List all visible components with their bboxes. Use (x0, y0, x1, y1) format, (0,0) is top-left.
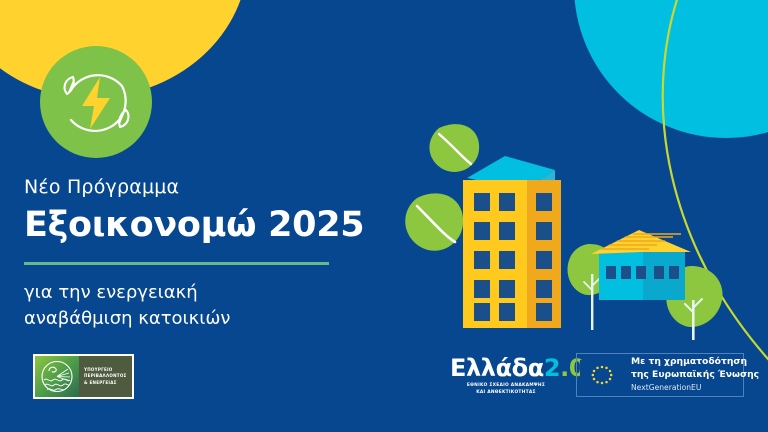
greece-2-0-subtitle: ΕΘΝΙΚΟ ΣΧΕΔΙΟ ΑΝΑΚΑΜΨΗΣ ΚΑΙ ΑΝΘΕΚΤΙΚΟΤΗΤ… (450, 383, 562, 396)
eu-flag-icon (580, 360, 624, 390)
poster-canvas: Νέο Πρόγραμμα Εξοικονομώ 2025 για την εν… (0, 0, 768, 432)
leaf-icon-lower (405, 193, 463, 250)
title-divider (24, 262, 329, 265)
apartment-building (463, 156, 561, 328)
greece-word-text: Ελλάδα (450, 354, 544, 382)
energy-upgrade-buildings-illustration (395, 100, 735, 340)
eu-text-line-2: της Ευρωπαϊκής Ένωσης (631, 369, 759, 381)
european-union-funding-logo: Με τη χρηματοδότηση της Ευρωπαϊκής Ένωση… (576, 353, 744, 397)
ministry-line-3: & ΕΝΕΡΓΕΙΑΣ (84, 380, 132, 386)
page-title: Εξοικονομώ 2025 (24, 206, 384, 245)
single-family-house (591, 230, 691, 300)
greece-2-0-wordmark: Ελλάδα2.0 (450, 356, 572, 380)
energy-recycle-icon (40, 46, 152, 158)
headline-block: Νέο Πρόγραμμα Εξοικονομώ 2025 για την εν… (24, 176, 384, 331)
greece-sub-line-1: ΕΘΝΙΚΟ ΣΧΕΔΙΟ ΑΝΑΚΑΜΨΗΣ (450, 383, 562, 390)
eyebrow-text: Νέο Πρόγραμμα (24, 176, 384, 200)
energy-badge (40, 46, 152, 158)
greece-sub-line-2: ΚΑΙ ΑΝΘΕΚΤΙΚΟΤΗΤΑΣ (450, 390, 562, 397)
eu-text-line-3: NextGenerationEU (631, 382, 759, 393)
ministry-of-environment-and-energy-logo: ΥΠΟΥΡΓΕΙΟ ΠΕΡΙΒΑΛΛΟΝΤΟΣ & ΕΝΕΡΓΕΙΑΣ (33, 354, 134, 399)
leaf-icon-upper (429, 124, 479, 172)
ministry-emblem-icon (35, 356, 79, 397)
footer-logos: ΥΠΟΥΡΓΕΙΟ ΠΕΡΙΒΑΛΛΟΝΤΟΣ & ΕΝΕΡΓΕΙΑΣ Ελλά… (0, 348, 768, 408)
subtitle-text: για την ενεργειακή αναβάθμιση κατοικιών (24, 280, 384, 331)
subtitle-line-2: αναβάθμιση κατοικιών (24, 308, 230, 329)
greece-2-0-logo: Ελλάδα2.0 ΕΘΝΙΚΟ ΣΧΕΔΙΟ ΑΝΑΚΑΜΨΗΣ ΚΑΙ ΑΝ… (450, 356, 572, 398)
eu-text-line-1: Με τη χρηματοδότηση (631, 356, 759, 368)
subtitle-line-1: για την ενεργειακή (24, 282, 198, 303)
